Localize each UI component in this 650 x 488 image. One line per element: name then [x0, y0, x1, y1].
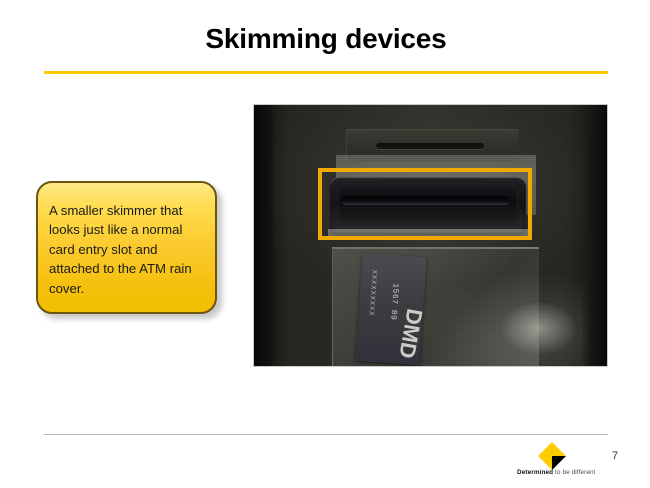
atm-skimmer-photo: XXXXXXXXX 1567 89 DMD [253, 104, 608, 367]
brand-logo: Determined to be different [517, 441, 605, 481]
card-digits: 1567 89 [388, 283, 400, 321]
atm-bezel-right [581, 105, 607, 366]
worn-card: XXXXXXXXX 1567 89 DMD [355, 253, 426, 365]
commonwealth-bank-diamond-icon [537, 441, 567, 471]
callout-box: A smaller skimmer that looks just like a… [36, 181, 217, 314]
atm-lower-tray: XXXXXXXXX 1567 89 DMD [332, 247, 539, 366]
title-divider [44, 71, 608, 74]
callout-text: A smaller skimmer that looks just like a… [49, 201, 207, 298]
page-title: Skimming devices [44, 24, 608, 55]
skimmer-highlight-rect [318, 168, 532, 240]
photo-image: XXXXXXXXX 1567 89 DMD [254, 105, 607, 366]
brand-tagline: Determined to be different [517, 469, 605, 476]
slide: Skimming devices A smaller skimmer that … [0, 0, 650, 488]
brand-tagline-rest: to be different [553, 469, 595, 476]
card-handwriting: DMD [393, 307, 427, 361]
footer-divider [44, 434, 608, 435]
page-number: 7 [612, 450, 618, 462]
atm-bezel-left [254, 105, 276, 366]
card-masked-digits: XXXXXXXXX [366, 269, 377, 316]
brand-tagline-bold: Determined [517, 469, 553, 476]
atm-receipt-slot [376, 143, 484, 149]
